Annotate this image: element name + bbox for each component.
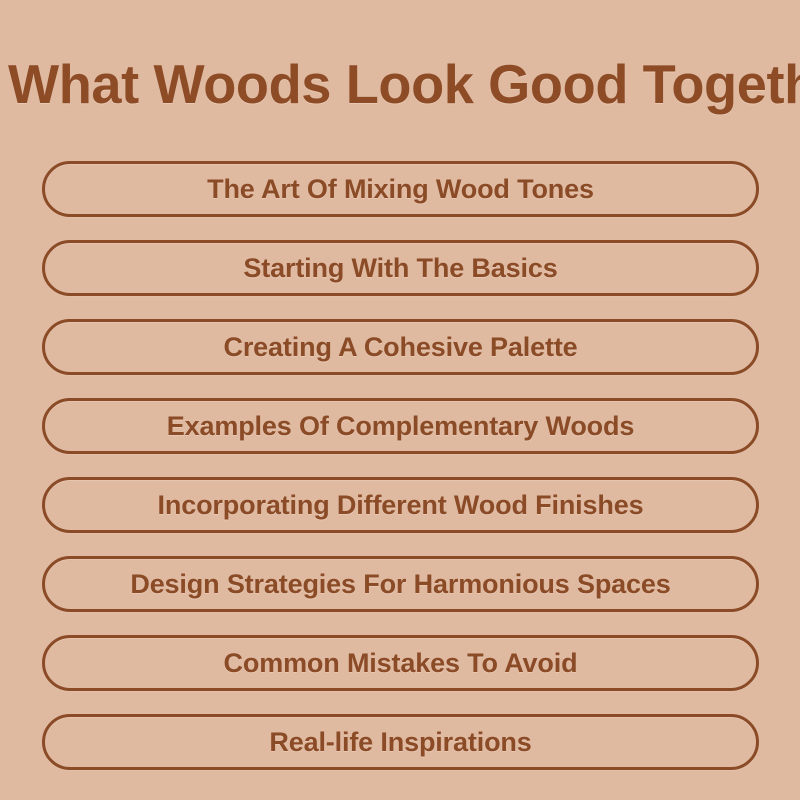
outline-item-8[interactable]: Real-life Inspirations: [42, 714, 759, 770]
outline-item-label: Examples Of Complementary Woods: [167, 413, 634, 440]
outline-item-5[interactable]: Incorporating Different Wood Finishes: [42, 477, 759, 533]
outline-item-2[interactable]: Starting With The Basics: [42, 240, 759, 296]
page-title-container: What Woods Look Good Together: [0, 44, 800, 124]
outline-item-7[interactable]: Common Mistakes To Avoid: [42, 635, 759, 691]
outline-item-label: The Art Of Mixing Wood Tones: [207, 176, 594, 203]
outline-item-4[interactable]: Examples Of Complementary Woods: [42, 398, 759, 454]
outline-item-label: Starting With The Basics: [243, 255, 557, 282]
outline-item-label: Common Mistakes To Avoid: [224, 650, 578, 677]
infographic-canvas: What Woods Look Good Together The Art Of…: [0, 0, 800, 800]
outline-list: The Art Of Mixing Wood Tones Starting Wi…: [42, 161, 759, 770]
outline-item-3[interactable]: Creating A Cohesive Palette: [42, 319, 759, 375]
page-title: What Woods Look Good Together: [6, 56, 794, 112]
outline-item-label: Real-life Inspirations: [269, 729, 531, 756]
outline-item-1[interactable]: The Art Of Mixing Wood Tones: [42, 161, 759, 217]
outline-item-label: Creating A Cohesive Palette: [223, 334, 577, 361]
outline-item-label: Incorporating Different Wood Finishes: [158, 492, 644, 519]
outline-item-label: Design Strategies For Harmonious Spaces: [130, 571, 670, 598]
outline-item-6[interactable]: Design Strategies For Harmonious Spaces: [42, 556, 759, 612]
